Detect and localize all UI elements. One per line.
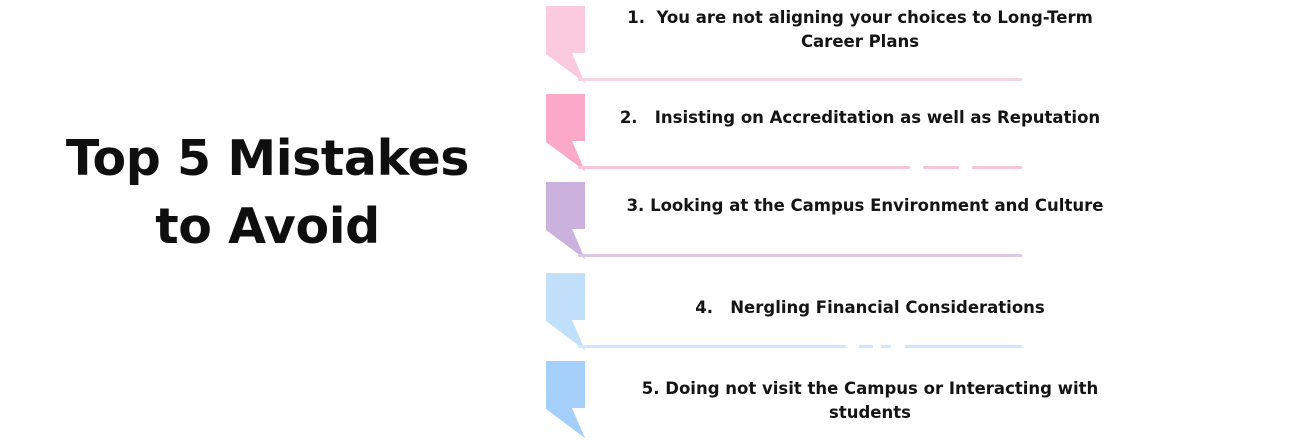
- divider-segment: [859, 345, 873, 348]
- bookmark-ribbon-icon: [546, 6, 592, 88]
- list-item-label: Nergling Financial Considerations: [730, 298, 1044, 317]
- list-item-text: 2. Insisting on Accreditation as well as…: [600, 106, 1120, 130]
- list-item-number: 5.: [642, 379, 660, 398]
- row-divider: [578, 254, 1022, 257]
- divider-segment: [578, 345, 846, 348]
- list-item-label: You are not aligning your choices to Lon…: [656, 8, 1092, 51]
- list-item[interactable]: 1. You are not aligning your choices to …: [540, 0, 1296, 88]
- bookmark-ribbon-icon: [546, 94, 592, 176]
- list-item[interactable]: 5. Doing not visit the Campus or Interac…: [540, 355, 1296, 443]
- slide-canvas: Top 5 Mistakes to Avoid 1. You are not a…: [0, 0, 1296, 443]
- list-item-number: 3.: [627, 196, 645, 215]
- row-divider: [578, 345, 1022, 348]
- list-item-number: 2.: [620, 108, 638, 127]
- list-item-number: 4.: [695, 298, 713, 317]
- list-item-text: 3. Looking at the Campus Environment and…: [600, 194, 1130, 218]
- divider-segment: [578, 166, 910, 169]
- divider-segment: [578, 78, 1022, 81]
- list-item[interactable]: 4. Nergling Financial Considerations: [540, 267, 1296, 355]
- list-item-text: 5. Doing not visit the Campus or Interac…: [600, 377, 1140, 425]
- title-block: Top 5 Mistakes to Avoid: [30, 125, 505, 261]
- divider-segment: [972, 166, 1022, 169]
- list-item-text: 4. Nergling Financial Considerations: [600, 296, 1140, 320]
- row-divider: [578, 166, 1022, 169]
- list-item-label: Doing not visit the Campus or Interactin…: [665, 379, 1098, 422]
- row-divider: [578, 78, 1022, 81]
- list-item-number: 1.: [627, 8, 645, 27]
- mistakes-list: 1. You are not aligning your choices to …: [540, 0, 1296, 443]
- divider-segment: [905, 345, 1022, 348]
- bookmark-ribbon-icon: [546, 182, 592, 264]
- list-item[interactable]: 2. Insisting on Accreditation as well as…: [540, 88, 1296, 176]
- list-item[interactable]: 3. Looking at the Campus Environment and…: [540, 176, 1296, 264]
- bookmark-ribbon-icon: [546, 273, 592, 355]
- page-title: Top 5 Mistakes to Avoid: [30, 125, 505, 261]
- divider-segment: [578, 254, 1022, 257]
- divider-segment: [923, 166, 959, 169]
- list-item-label: Looking at the Campus Environment and Cu…: [650, 196, 1103, 215]
- divider-segment: [881, 345, 891, 348]
- list-item-label: Insisting on Accreditation as well as Re…: [655, 108, 1100, 127]
- list-item-text: 1. You are not aligning your choices to …: [600, 6, 1120, 54]
- bookmark-ribbon-icon: [546, 361, 592, 443]
